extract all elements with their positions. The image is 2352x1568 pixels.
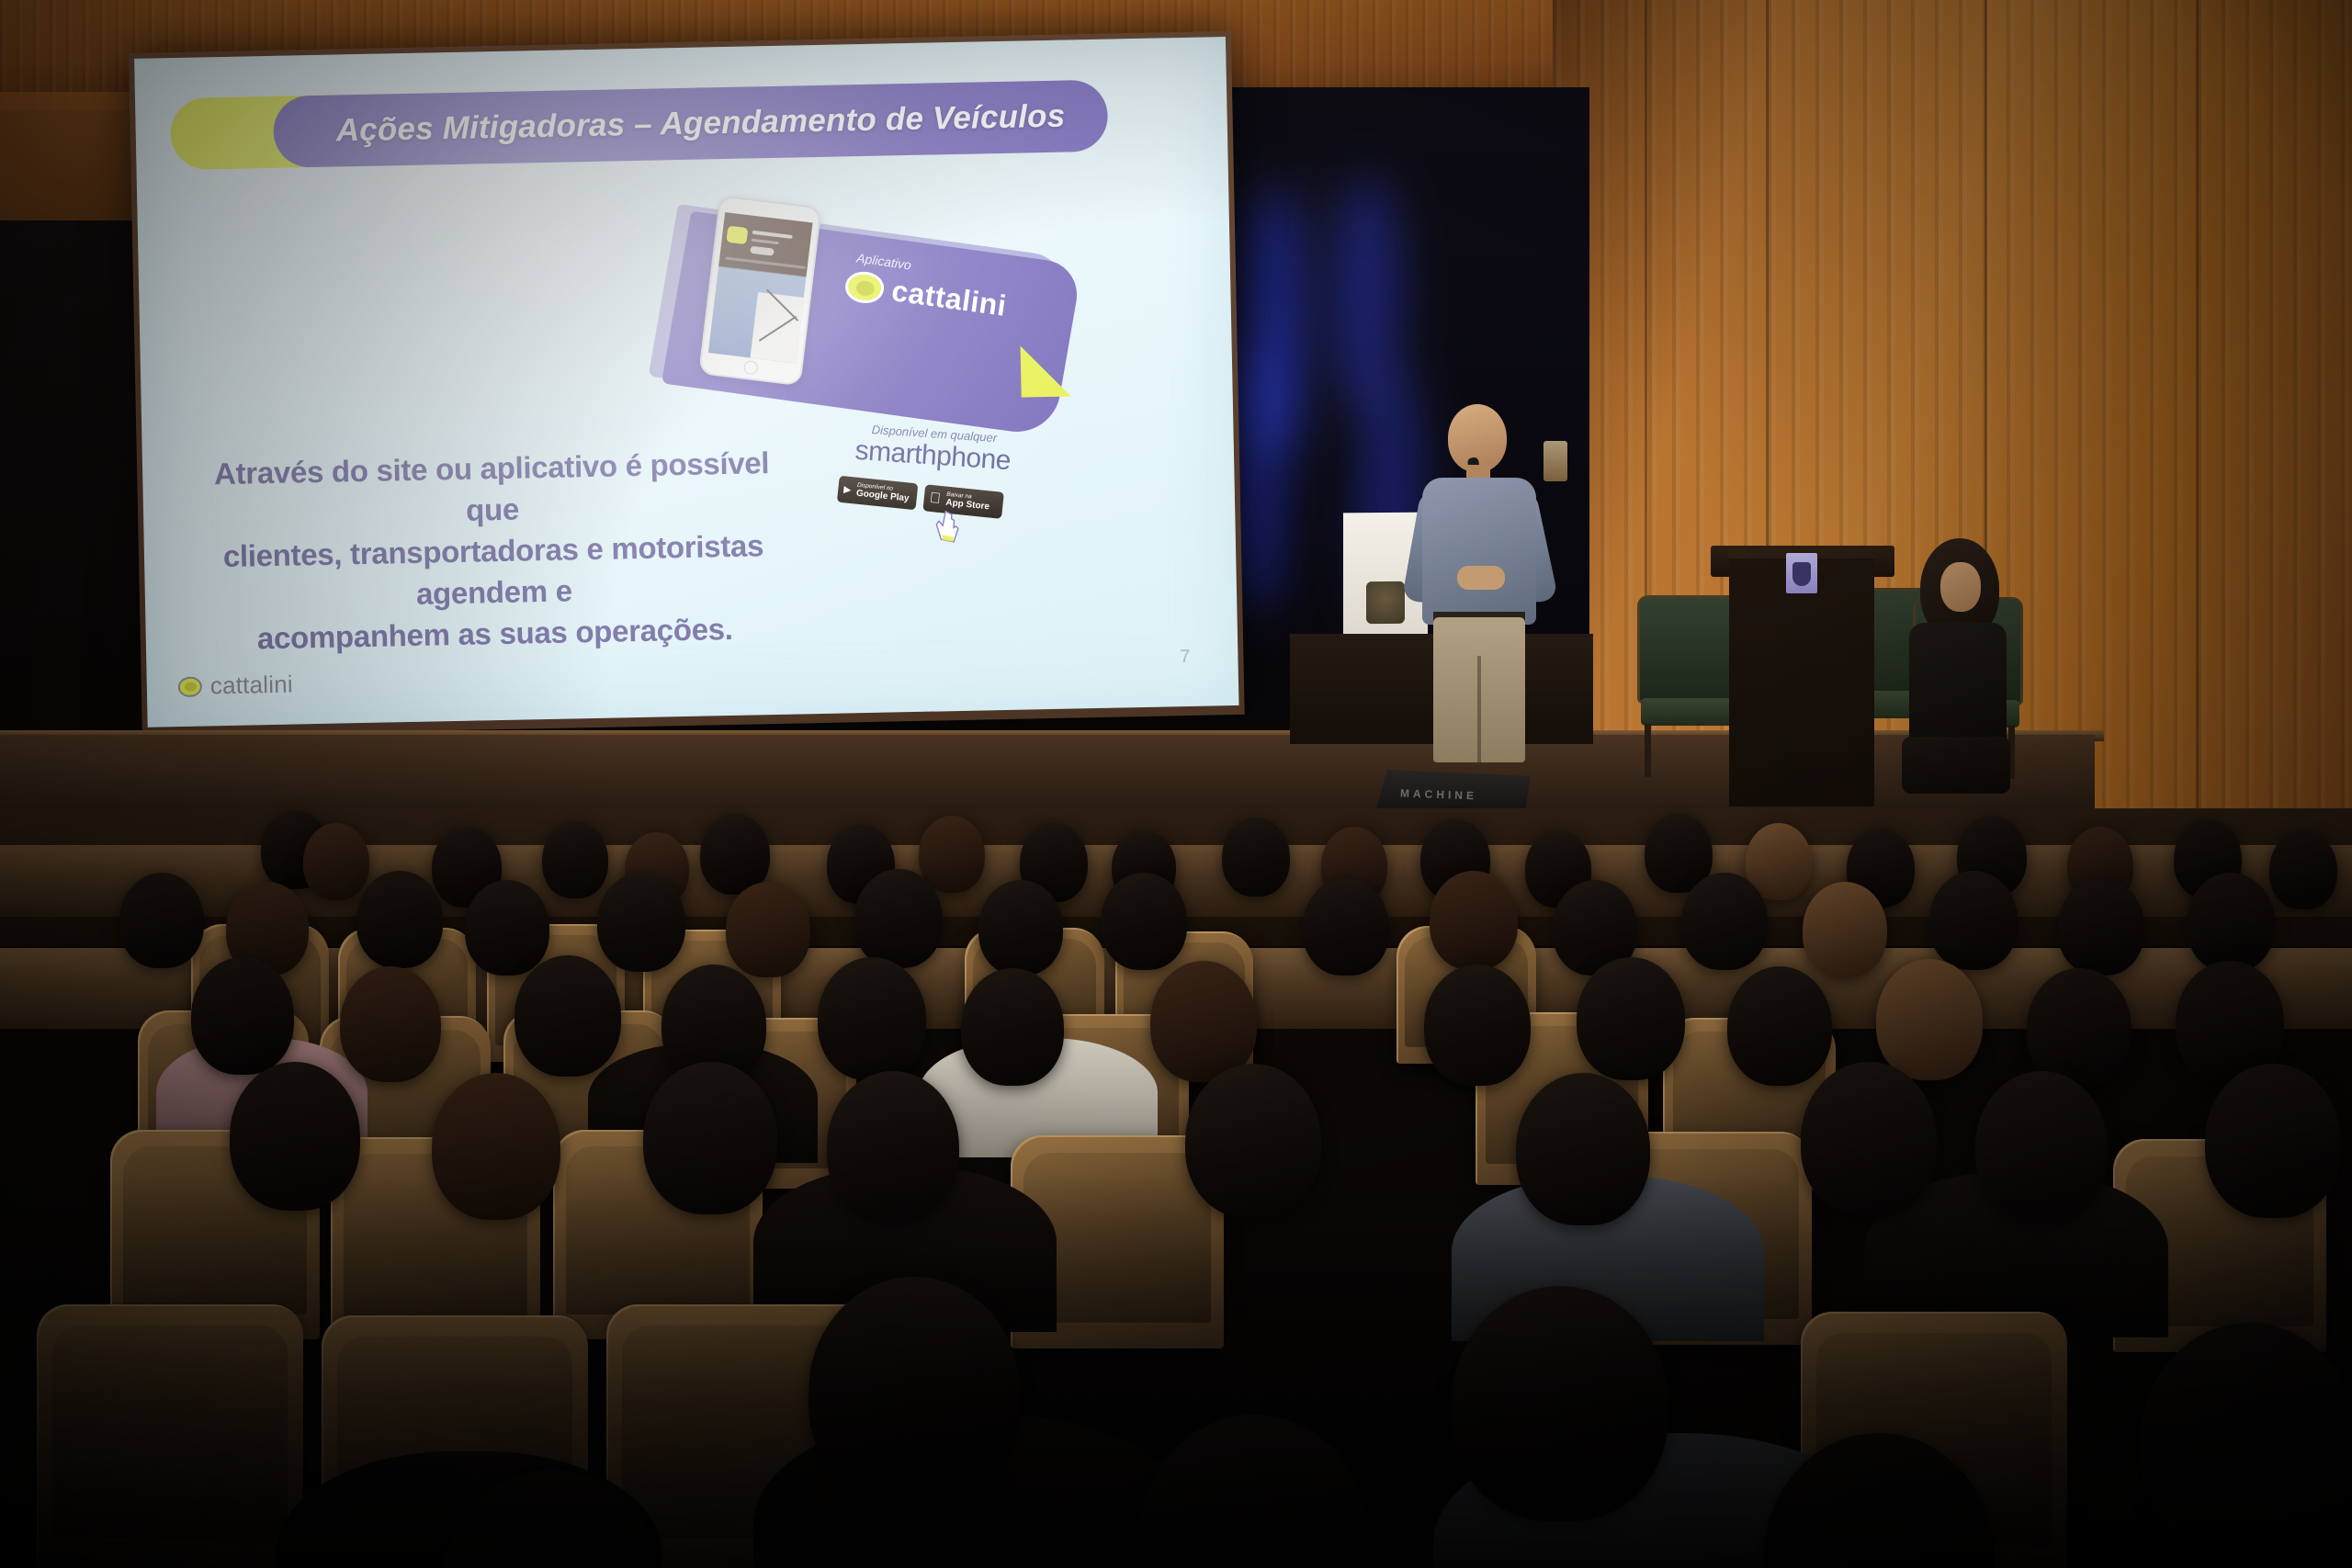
lectern-crest-icon — [1786, 553, 1817, 593]
presentation-slide: Ações Mitigadoras – Agendamento de Veícu… — [134, 37, 1238, 728]
audience-head — [356, 871, 443, 968]
audience-head — [514, 955, 621, 1077]
store-badges: ▸ Disponível no Google Play  Baixar na … — [837, 476, 1004, 519]
audience-head — [303, 823, 369, 900]
phone-map-preview — [751, 292, 809, 363]
audience-head — [2269, 830, 2337, 909]
audience-head — [1516, 1073, 1650, 1225]
presenter-shirt — [1422, 478, 1536, 625]
audience-head — [919, 816, 985, 893]
audience-head — [1430, 871, 1518, 970]
cattalini-footer-logo-icon — [178, 676, 202, 697]
phone-screen — [708, 212, 813, 363]
audience-head — [191, 957, 294, 1075]
audience-head — [1222, 818, 1290, 897]
audience-head — [961, 968, 1064, 1086]
presenter — [1406, 404, 1553, 762]
yellow-triangle-accent — [1021, 345, 1071, 398]
audience-head-foreground — [808, 1277, 1020, 1506]
audience-head — [1150, 961, 1257, 1082]
audience-head — [1727, 966, 1832, 1086]
slide-app-graphic: Aplicativo cattalini — [651, 175, 1173, 571]
audience-head — [2187, 873, 2275, 972]
google-play-badge: ▸ Disponível no Google Play — [837, 476, 919, 511]
smartphone-mockup — [698, 195, 822, 386]
panelist-black-blazer — [1909, 623, 2007, 751]
audience-head-foreground — [1452, 1286, 1668, 1521]
audience-head — [465, 880, 549, 976]
audience-head — [818, 957, 926, 1080]
audience-head — [1303, 878, 1389, 976]
slide-title-bar: Ações Mitigadoras – Agendamento de Veícu… — [170, 80, 1108, 170]
audience-head — [230, 1062, 360, 1211]
audience-head — [726, 882, 810, 977]
audience-head — [1975, 1071, 2108, 1222]
slide-title: Ações Mitigadoras – Agendamento de Veícu… — [273, 98, 1065, 151]
phone-app-icon — [726, 226, 748, 244]
google-play-text: Disponível no Google Play — [855, 482, 910, 505]
audience-head — [854, 869, 943, 968]
pointing-hand-icon — [931, 504, 965, 546]
slide-footer-brand: cattalini — [210, 671, 294, 701]
audience-head — [978, 880, 1063, 976]
audience-head — [432, 1073, 560, 1220]
audience-head — [1929, 871, 2018, 970]
audience-head — [1101, 873, 1187, 970]
audience-head — [1876, 959, 1983, 1080]
audience-head — [1577, 957, 1685, 1080]
slide-footer-logo: cattalini — [178, 671, 294, 702]
presenter-hands — [1457, 566, 1505, 590]
audience-head — [2027, 968, 2131, 1088]
slide-number: 7 — [1180, 647, 1191, 668]
audience-seat — [37, 1304, 303, 1568]
phone-home-button — [743, 360, 759, 376]
google-play-icon: ▸ — [842, 482, 852, 498]
audience-head — [542, 821, 608, 898]
audience-head — [1185, 1064, 1321, 1218]
panelist-face — [1940, 562, 1981, 612]
audience-head — [119, 873, 204, 968]
audience-head — [827, 1071, 959, 1222]
audience-area — [0, 735, 2352, 1568]
title-purple-pill: Ações Mitigadoras – Agendamento de Veícu… — [273, 80, 1108, 168]
projection-screen: Ações Mitigadoras – Agendamento de Veícu… — [129, 31, 1245, 737]
audience-head — [2058, 878, 2144, 976]
auditorium-scene: Ações Mitigadoras – Agendamento de Veícu… — [0, 0, 2352, 1568]
cattalini-logo-icon — [843, 269, 886, 305]
audience-head-foreground — [2141, 1323, 2352, 1558]
audience-head-foreground — [1139, 1415, 1369, 1568]
audience-head — [643, 1062, 777, 1214]
audience-head — [597, 873, 685, 972]
audience-head — [2205, 1064, 2341, 1218]
audience-head — [1424, 964, 1531, 1086]
audience-head — [1803, 882, 1887, 977]
audience-head — [340, 966, 441, 1082]
podium-crest-icon — [1366, 581, 1405, 624]
audience-head — [1681, 873, 1768, 970]
audience-head — [1801, 1062, 1937, 1216]
